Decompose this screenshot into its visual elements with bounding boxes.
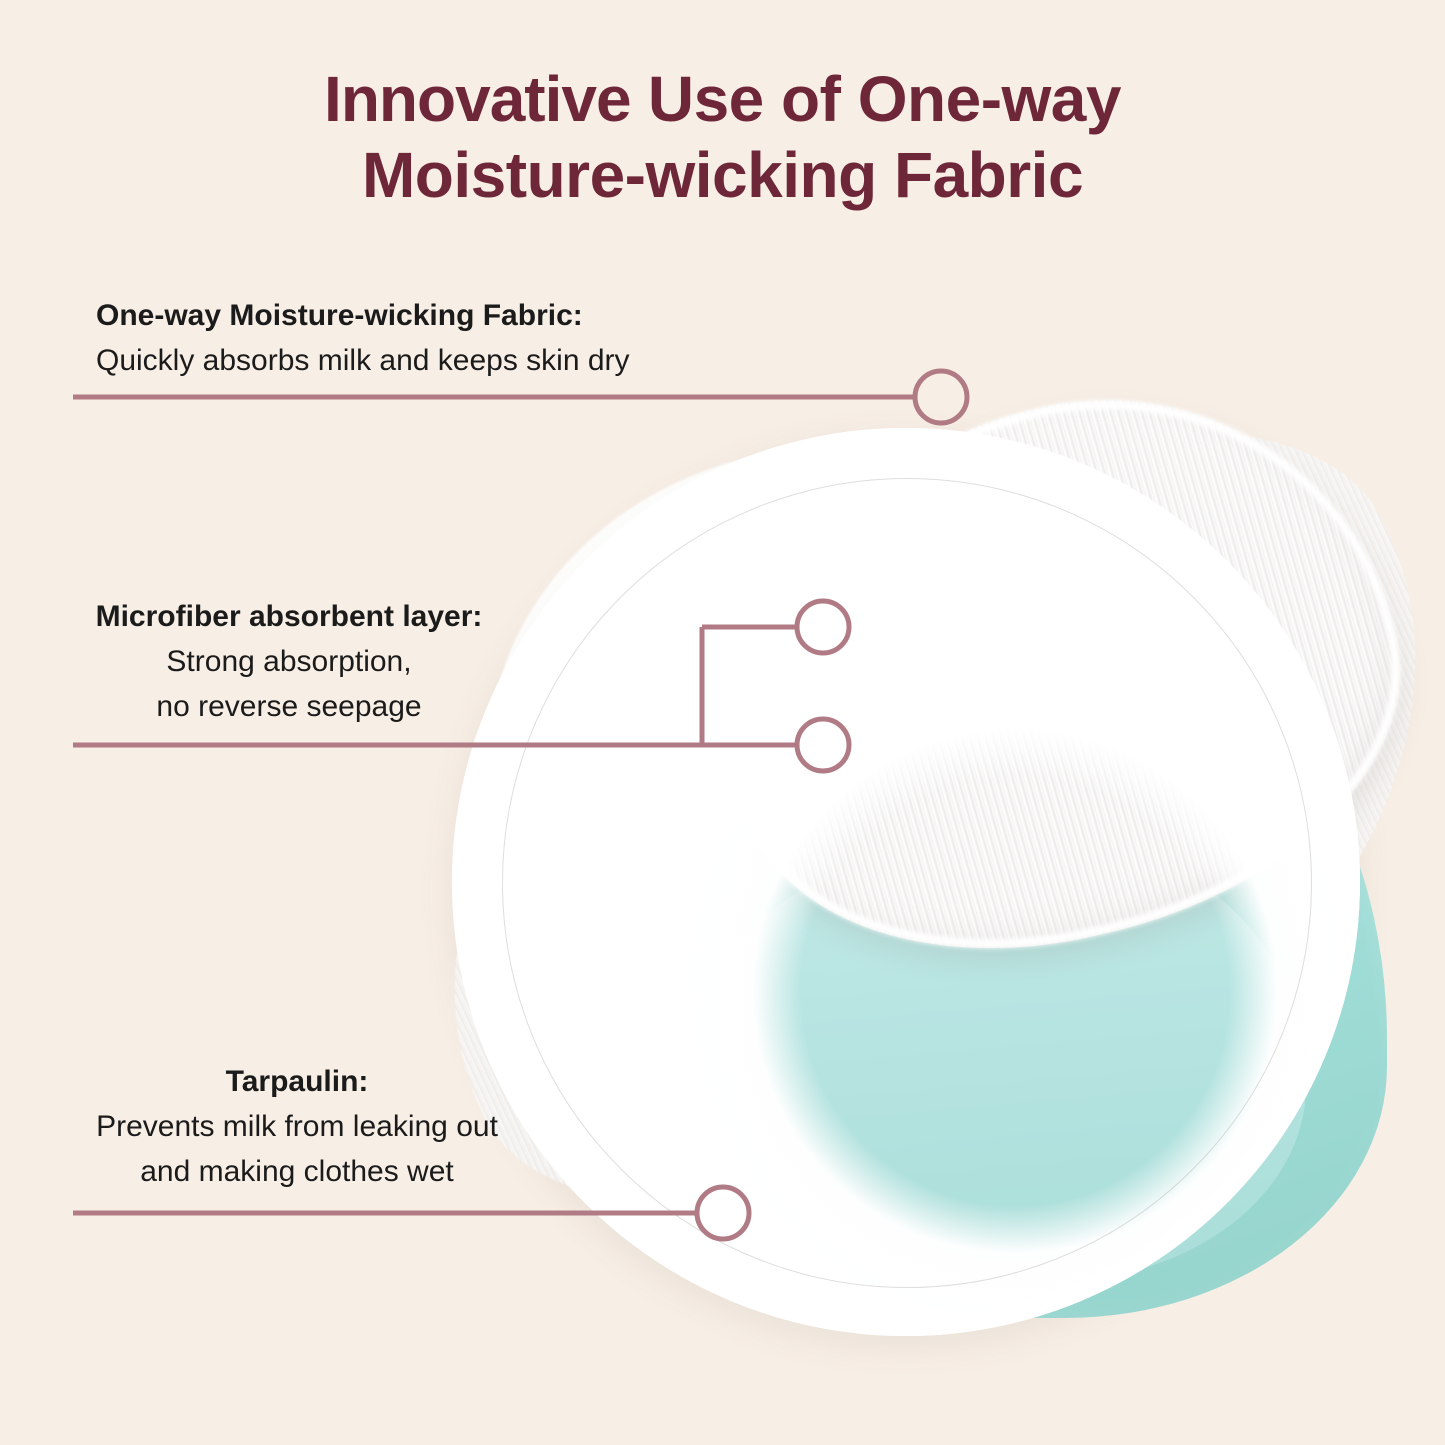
infographic-canvas: Innovative Use of One-way Moisture-wicki… <box>0 0 1445 1445</box>
callout-tarpaulin: Tarpaulin: Prevents milk from leaking ou… <box>72 1063 522 1191</box>
callout-2-body-line-2: no reverse seepage <box>74 687 504 726</box>
callout-2-body-line-1: Strong absorption, <box>74 642 504 681</box>
pad-stitch-ring <box>502 478 1312 1288</box>
callout-3-body-line-2: and making clothes wet <box>72 1152 522 1191</box>
callout-2-heading: Microfiber absorbent layer: <box>74 598 504 636</box>
title-lead-word: Innovative <box>324 63 631 135</box>
callout-3-heading: Tarpaulin: <box>72 1063 522 1101</box>
callout-3-body-line-1: Prevents milk from leaking out <box>72 1107 522 1146</box>
title-line-1-rest: Use of One-way <box>631 63 1121 135</box>
page-title: Innovative Use of One-way Moisture-wicki… <box>0 62 1445 213</box>
title-line-2: Moisture-wicking Fabric <box>0 138 1445 214</box>
callout-one-way-moisture-wicking-fabric: One-way Moisture-wicking Fabric: Quickly… <box>96 297 630 380</box>
callout-1-heading: One-way Moisture-wicking Fabric: <box>96 297 630 335</box>
product-illustration <box>452 428 1360 1336</box>
title-line-1: Innovative Use of One-way <box>0 62 1445 138</box>
circle-marker-callout-1 <box>915 371 967 423</box>
callout-1-body: Quickly absorbs milk and keeps skin dry <box>96 341 630 380</box>
callout-microfiber-absorbent-layer: Microfiber absorbent layer: Strong absor… <box>74 598 504 726</box>
